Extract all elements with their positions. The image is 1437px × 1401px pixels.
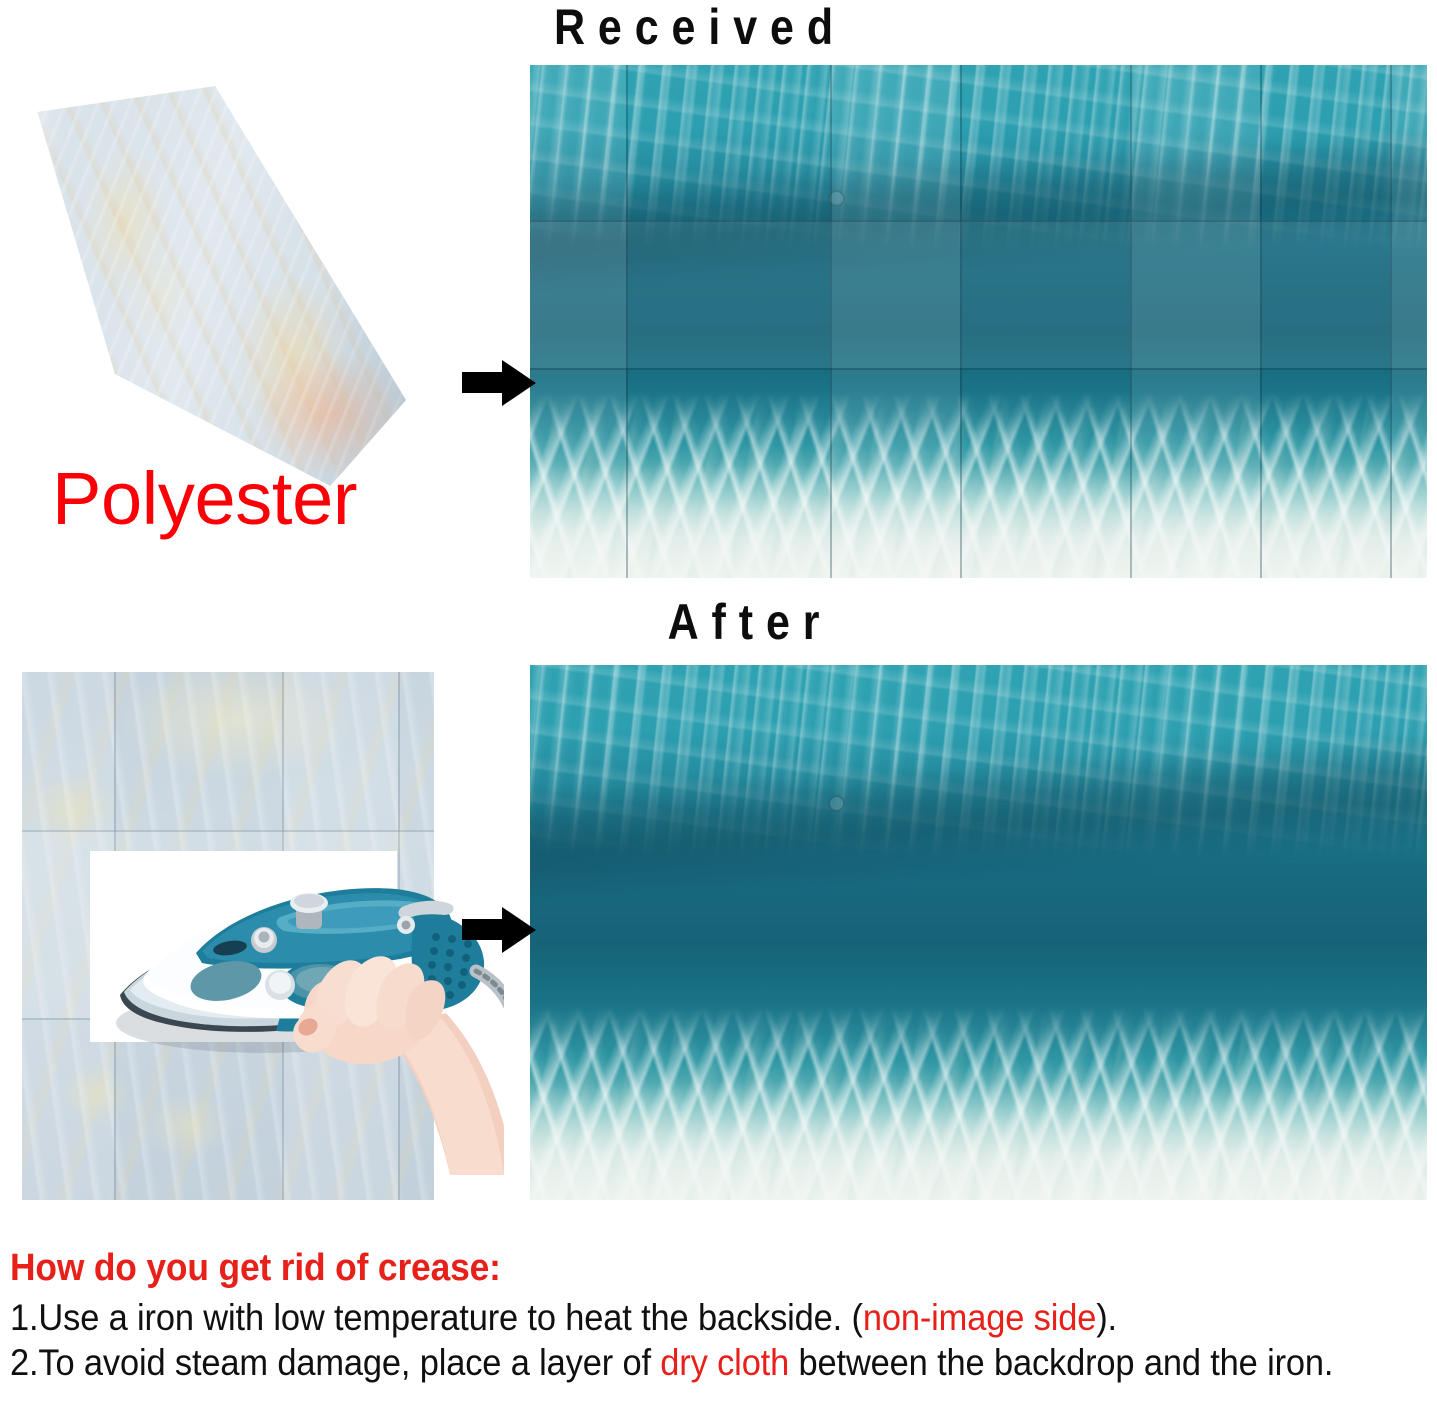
step-2-highlight: dry cloth: [660, 1342, 789, 1383]
swatch-curl-shading: [28, 86, 406, 486]
step-2-text-b: between the backdrop and the iron.: [789, 1342, 1333, 1383]
step-2-text-a: To avoid steam damage, place a layer of: [38, 1342, 660, 1383]
ocean-sand-wash: [530, 1082, 1427, 1200]
received-backdrop-photo: [530, 65, 1427, 578]
crease-fold-line: [530, 220, 1427, 222]
arrow-right-icon: [462, 907, 538, 953]
arrow-head: [502, 907, 536, 953]
arrow-right-icon: [462, 360, 538, 406]
received-section-title: Received: [468, 2, 932, 52]
polyester-material-label: Polyester: [52, 462, 357, 536]
arrow-shaft: [462, 919, 506, 940]
crease-overlay: [530, 65, 1427, 578]
step-2-number: 2.: [10, 1342, 38, 1383]
instruction-step-2: 2.To avoid steam damage, place a layer o…: [10, 1340, 1331, 1385]
after-backdrop-photo: [530, 665, 1427, 1200]
crease-fold-line: [530, 368, 1427, 370]
arrow-shaft: [462, 372, 506, 393]
after-section-title: After: [604, 597, 896, 647]
iron-icon: [84, 845, 504, 1175]
instruction-step-1: 1.Use a iron with low temperature to hea…: [10, 1295, 1331, 1340]
care-instructions: How do you get rid of crease: 1.Use a ir…: [10, 1248, 1430, 1385]
water-bubble: [828, 795, 845, 812]
steam-iron-photo: [90, 851, 397, 1042]
crease-band: [530, 220, 1427, 368]
backside-fold-line: [22, 830, 434, 832]
polyester-fabric-swatch: [28, 86, 406, 486]
arrow-head: [502, 360, 536, 406]
step-1-text-a: Use a iron with low temperature to heat …: [38, 1297, 862, 1338]
step-1-number: 1.: [10, 1297, 38, 1338]
step-1-text-b: ).: [1096, 1297, 1117, 1338]
instructions-heading: How do you get rid of crease:: [10, 1248, 1331, 1289]
step-1-highlight: non-image side: [863, 1297, 1096, 1338]
